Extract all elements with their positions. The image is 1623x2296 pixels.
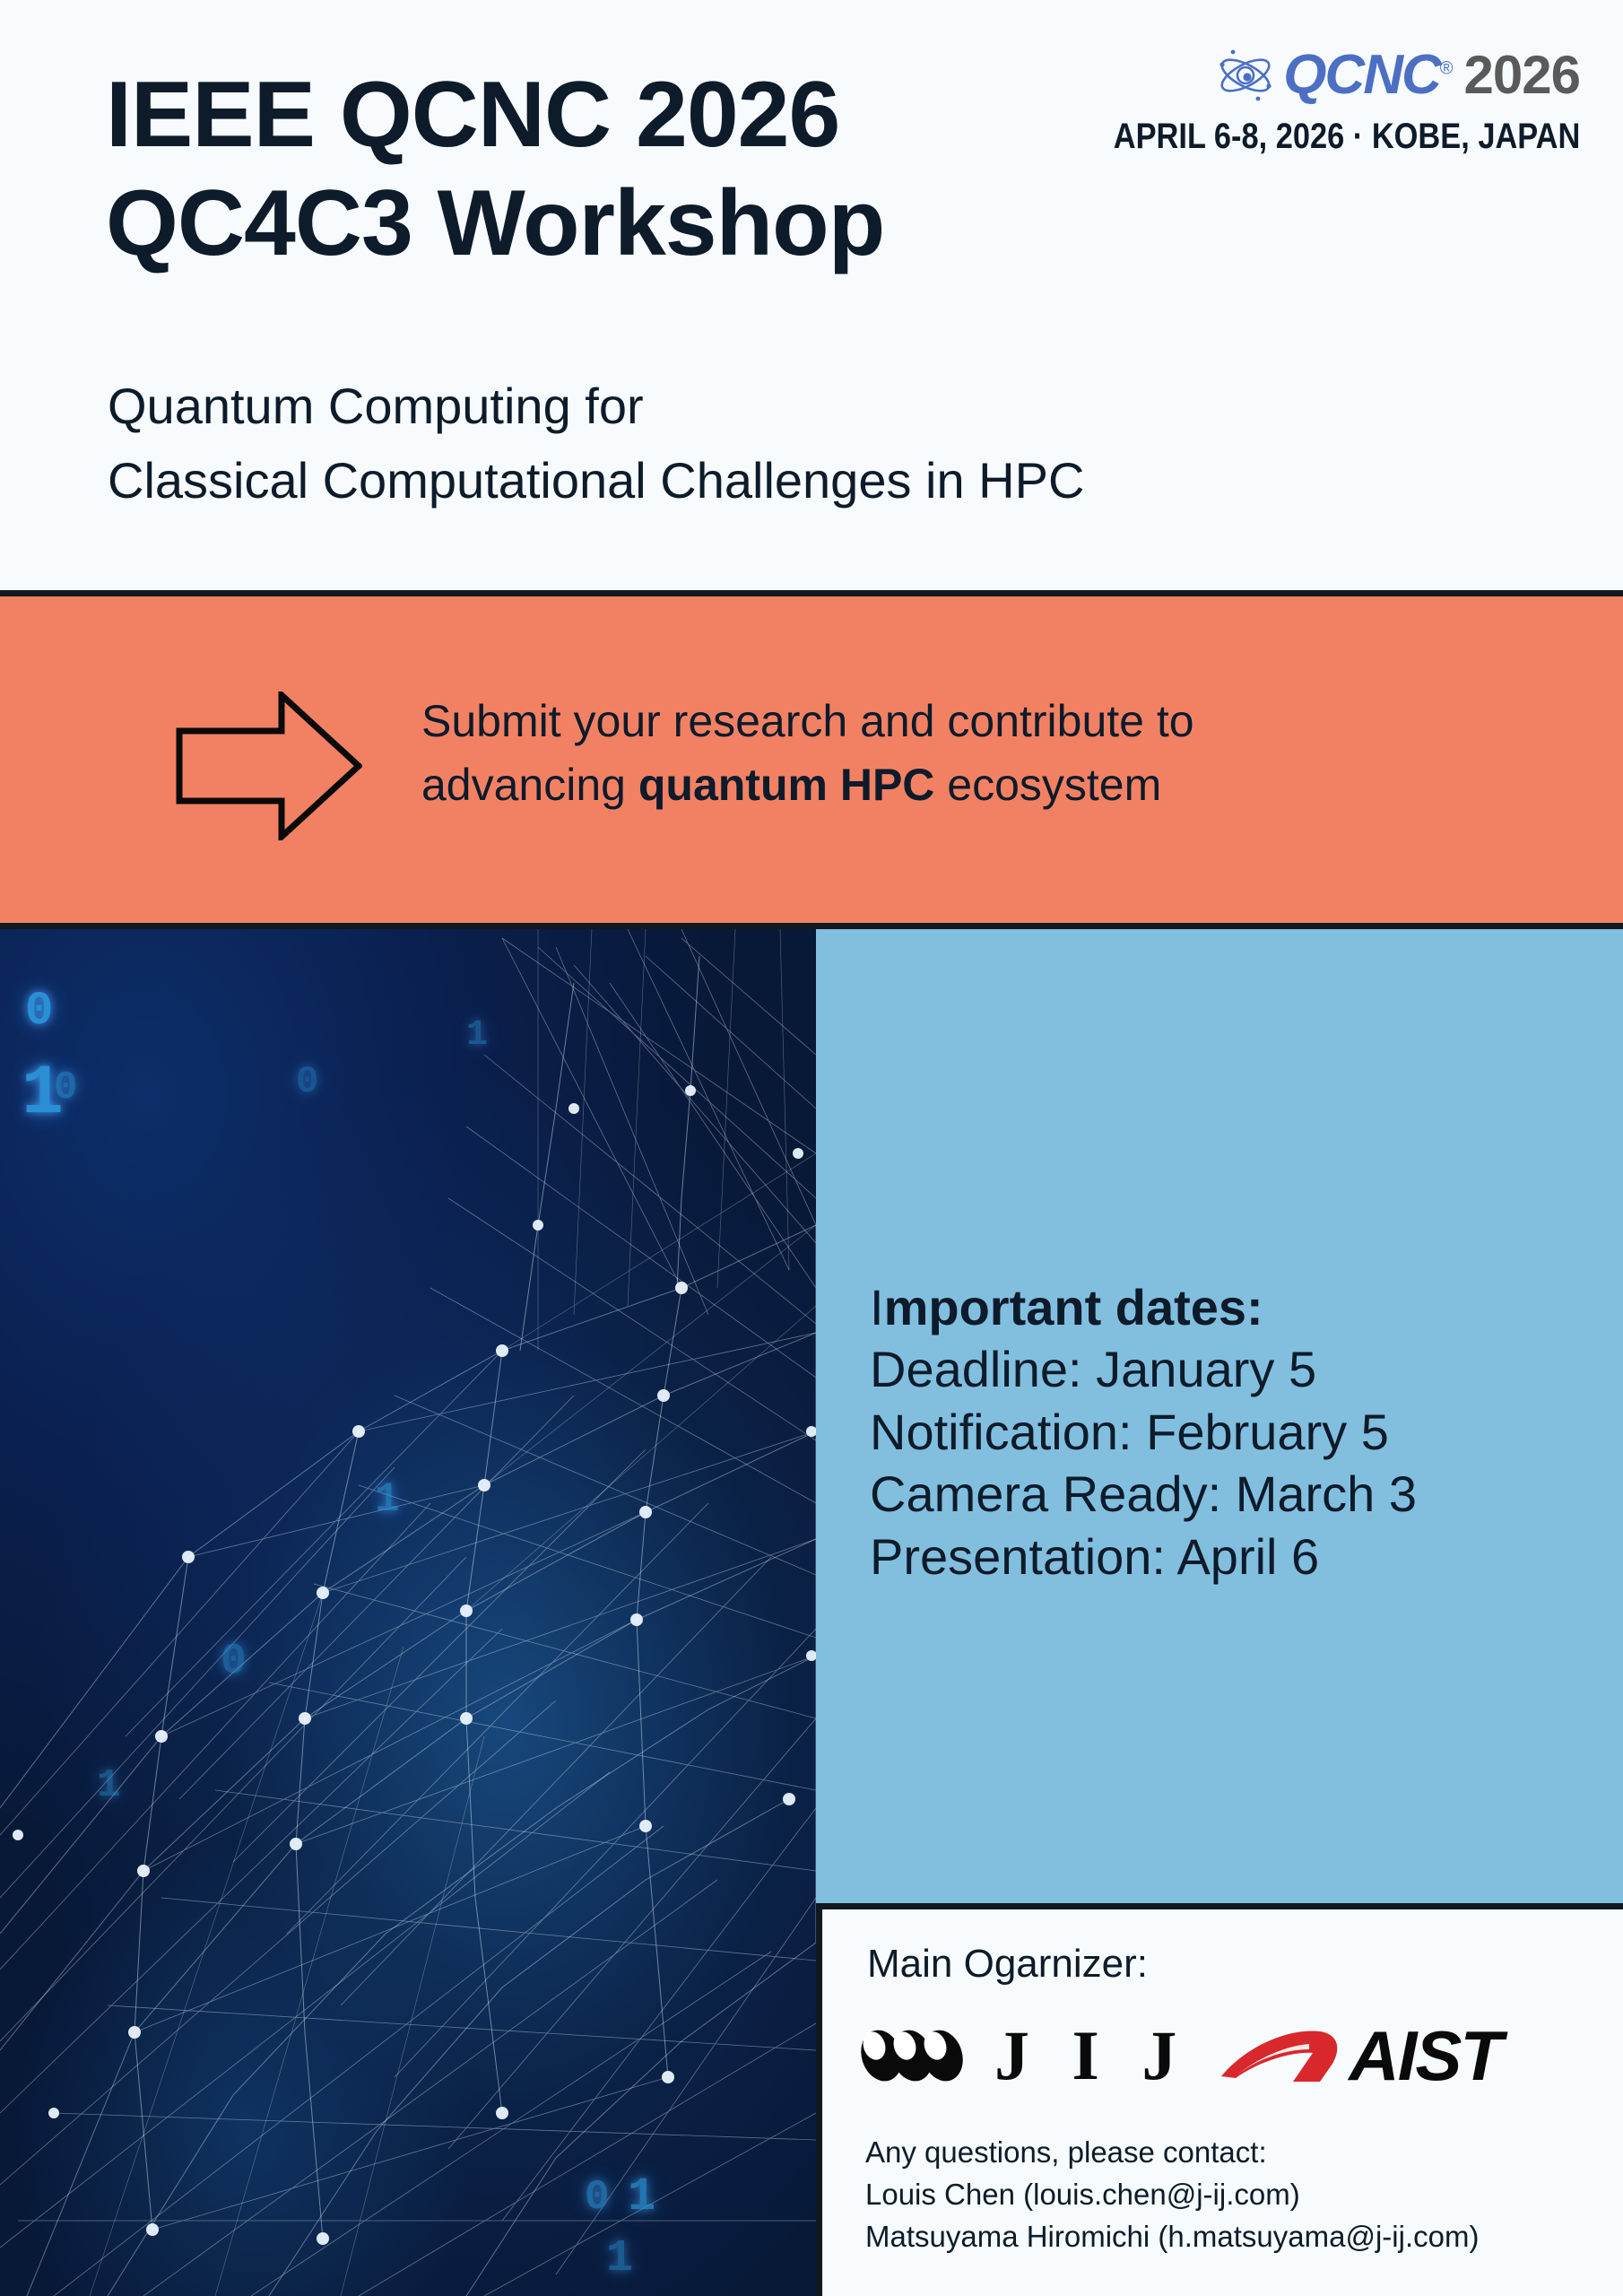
page-title-line-1: IEEE QCNC 2026 xyxy=(106,61,884,170)
binary-glyph: 1 xyxy=(466,1015,488,1056)
cta-line-1: Submit your research and contribute to xyxy=(421,690,1194,753)
date-item-deadline: Deadline: January 5 xyxy=(870,1338,1601,1400)
poster-root: IEEE QCNC 2026 QC4C3 Workshop Quantum Co… xyxy=(0,0,1623,2296)
cta-emphasis: quantum HPC xyxy=(638,760,935,810)
cta-line-2-suffix: ecosystem xyxy=(934,760,1161,810)
binary-glyph: 0 xyxy=(296,1060,318,1103)
qcnc-brand-word: QCNC xyxy=(1283,44,1440,106)
qcnc-year-text: 2026 xyxy=(1464,48,1580,102)
binary-glyph: 1 xyxy=(628,2170,655,2223)
subtitle-line-1: Quantum Computing for xyxy=(108,370,1084,444)
binary-glyph: 1 xyxy=(606,2233,633,2284)
date-item-notification: Notification: February 5 xyxy=(870,1401,1601,1463)
binary-glyph: 0 xyxy=(585,2174,610,2221)
jij-logo: J I J xyxy=(860,2021,1189,2091)
qcnc-logo-row: QCNC® 2026 xyxy=(1037,47,1580,104)
heading-first-letter: I xyxy=(870,1279,884,1335)
binary-glyph: 0 xyxy=(221,1638,247,1686)
heading-rest: mportant dates: xyxy=(884,1279,1263,1335)
network-mesh-lines xyxy=(0,929,816,2296)
conference-dateline: APRIL 6-8, 2026 · KOBE, JAPAN xyxy=(1113,117,1580,157)
call-to-action-band: Submit your research and contribute to a… xyxy=(0,590,1623,929)
quantum-network-mesh-image: 0 1 0 1 0 1 0 1 0 0 1 1 xyxy=(0,929,816,2296)
page-title-line-2: QC4C3 Workshop xyxy=(106,170,884,278)
binary-glyph: 0 xyxy=(54,1065,77,1110)
binary-glyph: 1 xyxy=(97,1763,120,1808)
title-block: IEEE QCNC 2026 QC4C3 Workshop xyxy=(106,61,884,277)
cta-text: Submit your research and contribute to a… xyxy=(421,690,1194,817)
qcnc-brand-text: QCNC® xyxy=(1283,48,1451,103)
organizer-logo-row: J I J AIST xyxy=(860,2006,1614,2105)
contact-person-1[interactable]: Louis Chen (louis.chen@j-ij.com) xyxy=(865,2174,1612,2216)
subtitle-block: Quantum Computing for Classical Computat… xyxy=(108,370,1084,518)
date-item-camera-ready: Camera Ready: March 3 xyxy=(870,1463,1601,1525)
aist-logo: AIST xyxy=(1219,2021,1501,2091)
date-item-presentation: Presentation: April 6 xyxy=(870,1526,1601,1587)
qcnc-conference-logo: QCNC® 2026 APRIL 6-8, 2026 · KOBE, JAPAN xyxy=(1037,47,1580,157)
jij-mark-icon xyxy=(860,2026,975,2085)
registered-mark-icon: ® xyxy=(1440,58,1452,78)
important-dates-content: Important dates: Deadline: January 5 Not… xyxy=(870,1277,1601,1587)
cta-line-2: advancing quantum HPC ecosystem xyxy=(421,753,1194,817)
atom-icon xyxy=(1217,47,1274,104)
organizer-title: Main Ogarnizer: xyxy=(867,1942,1148,1987)
important-dates-panel: Important dates: Deadline: January 5 Not… xyxy=(816,929,1623,1903)
contact-block: Any questions, please contact: Louis Che… xyxy=(865,2132,1612,2258)
contact-heading: Any questions, please contact: xyxy=(865,2132,1612,2174)
aist-swoosh-icon xyxy=(1219,2026,1345,2085)
cta-line-2-prefix: advancing xyxy=(421,760,638,810)
right-arrow-icon xyxy=(176,691,362,840)
contact-person-2[interactable]: Matsuyama Hiromichi (h.matsuyama@j-ij.co… xyxy=(865,2216,1612,2258)
important-dates-heading: Important dates: xyxy=(870,1277,1601,1338)
binary-glyph: 0 xyxy=(25,985,53,1038)
binary-glyph: 1 xyxy=(375,1476,400,1523)
subtitle-line-2: Classical Computational Challenges in HP… xyxy=(108,444,1084,518)
aist-letters: AIST xyxy=(1349,2021,1501,2091)
poster-header: IEEE QCNC 2026 QC4C3 Workshop Quantum Co… xyxy=(0,0,1623,590)
organizer-panel: Main Ogarnizer: J I J xyxy=(816,1903,1623,2296)
jij-letters: J I J xyxy=(994,2021,1189,2091)
